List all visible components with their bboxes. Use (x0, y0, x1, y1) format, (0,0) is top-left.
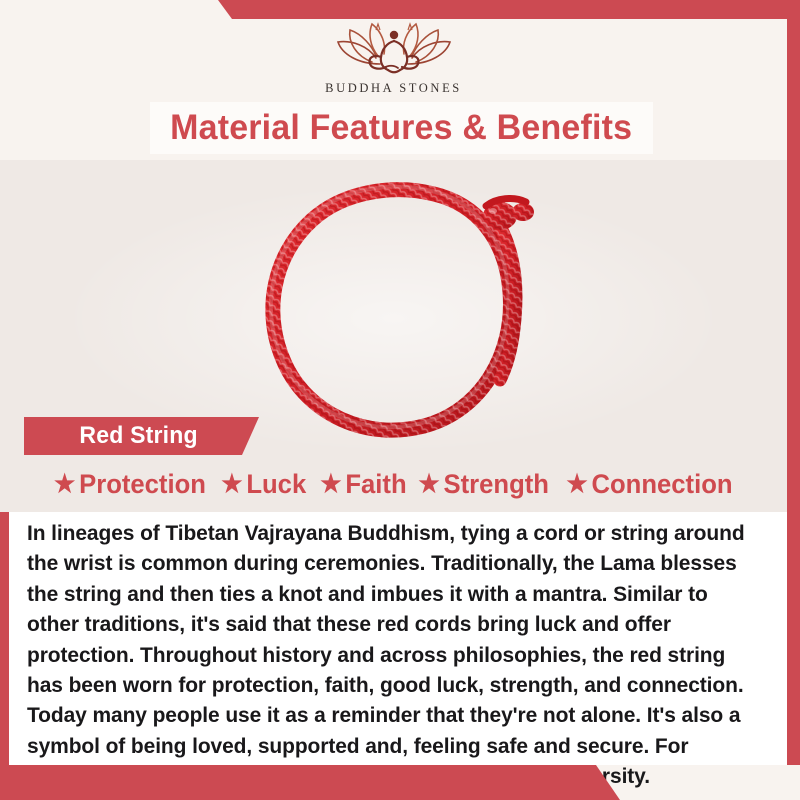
keyword-label: Faith (345, 469, 406, 500)
page-title: Material Features & Benefits (170, 108, 632, 148)
keyword-strength: ★ Strength (419, 469, 550, 500)
red-string-bracelet-image (238, 168, 568, 446)
keyword-connection: ★ Connection (566, 469, 732, 500)
star-icon: ★ (320, 472, 341, 497)
benefit-keyword-row: ★ Protection ★ Luck ★ Faith ★ Strength ★… (0, 463, 787, 505)
keyword-label: Luck (246, 469, 306, 500)
bracelet-knot (483, 199, 534, 230)
infographic-page: BUDDHA STONES Material Features & Benefi… (0, 0, 800, 800)
star-icon: ★ (221, 472, 242, 497)
star-icon: ★ (54, 472, 75, 497)
title-band: Material Features & Benefits (150, 102, 653, 154)
keyword-luck: ★ Luck (221, 469, 306, 500)
right-red-bar (787, 19, 800, 765)
keyword-label: Protection (79, 469, 206, 500)
description-block: In lineages of Tibetan Vajrayana Buddhis… (9, 512, 787, 765)
star-icon: ★ (566, 472, 587, 497)
star-icon: ★ (419, 472, 440, 497)
product-name-banner: Red String (24, 417, 259, 455)
keyword-faith: ★ Faith (320, 469, 406, 500)
keyword-label: Strength (444, 469, 549, 500)
keyword-protection: ★ Protection (54, 469, 206, 500)
left-lower-red-bar (0, 514, 9, 765)
keyword-label: Connection (591, 469, 732, 500)
lotus-meditation-icon (318, 18, 470, 80)
brand-name: BUDDHA STONES (325, 81, 462, 96)
bottom-red-bar (0, 765, 620, 800)
brand-logo: BUDDHA STONES (0, 18, 787, 102)
product-name-label: Red String (28, 422, 198, 450)
description-text: In lineages of Tibetan Vajrayana Buddhis… (27, 518, 758, 792)
top-red-bar (214, 0, 800, 19)
